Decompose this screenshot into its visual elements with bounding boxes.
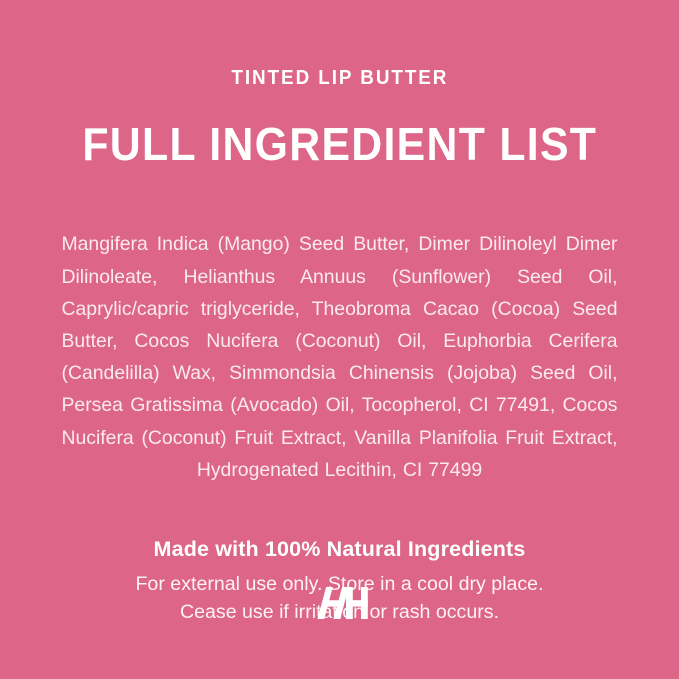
hh-monogram-icon bbox=[311, 586, 369, 620]
product-label-card: TINTED LIP BUTTER FULL INGREDIENT LIST M… bbox=[0, 0, 679, 679]
brand-logo bbox=[0, 583, 679, 623]
product-kicker: TINTED LIP BUTTER bbox=[231, 68, 448, 89]
page-title: FULL INGREDIENT LIST bbox=[82, 121, 597, 167]
ingredient-list-text: Mangifera Indica (Mango) Seed Butter, Di… bbox=[62, 228, 618, 486]
natural-ingredients-claim: Made with 100% Natural Ingredients bbox=[54, 536, 625, 563]
